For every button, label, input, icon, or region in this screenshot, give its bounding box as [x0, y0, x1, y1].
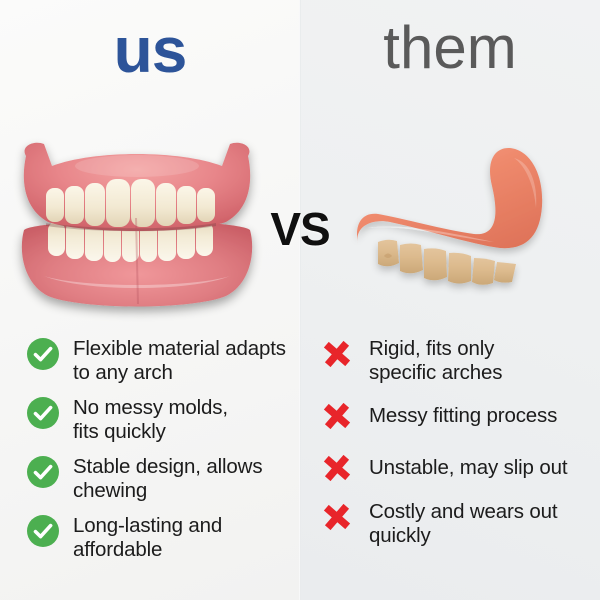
- list-item: Unstable, may slip out: [320, 447, 592, 489]
- denture-single-arch-image: [344, 132, 592, 318]
- cross-mark-icon: [322, 399, 352, 433]
- comparison-infographic: us them: [0, 0, 600, 600]
- panel-divider: [299, 0, 301, 600]
- check-circle-icon: [26, 455, 60, 489]
- denture-full-set-image: [4, 126, 270, 322]
- list-item: Rigid, fits only specific arches: [320, 336, 592, 385]
- check-circle-icon: [26, 514, 60, 548]
- right-feature-list: Rigid, fits only specific arches Messy f…: [320, 336, 592, 558]
- list-item-label: Long-lasting and affordable: [73, 513, 222, 562]
- check-circle-icon: [26, 337, 60, 371]
- list-item-label: Flexible material adapts to any arch: [73, 336, 286, 385]
- list-item: Messy fitting process: [320, 395, 592, 437]
- list-item-label: No messy molds, fits quickly: [73, 395, 228, 444]
- list-item-label: Costly and wears out quickly: [369, 499, 557, 548]
- list-item-label: Rigid, fits only specific arches: [369, 336, 502, 385]
- list-item: Flexible material adapts to any arch: [26, 336, 294, 385]
- list-item-label: Unstable, may slip out: [369, 455, 567, 480]
- header-us: us: [0, 18, 300, 82]
- list-item: No messy molds, fits quickly: [26, 395, 294, 444]
- vs-label: VS: [262, 202, 338, 256]
- cross-mark-icon: [322, 451, 352, 485]
- header-them: them: [300, 18, 600, 78]
- list-item: Costly and wears out quickly: [320, 499, 592, 548]
- left-feature-list: Flexible material adapts to any arch No …: [26, 336, 294, 572]
- check-circle-icon: [26, 396, 60, 430]
- cross-mark-icon: [322, 337, 352, 371]
- list-item: Long-lasting and affordable: [26, 513, 294, 562]
- list-item-label: Messy fitting process: [369, 403, 557, 428]
- list-item-label: Stable design, allows chewing: [73, 454, 262, 503]
- list-item: Stable design, allows chewing: [26, 454, 294, 503]
- cross-mark-icon: [322, 500, 352, 534]
